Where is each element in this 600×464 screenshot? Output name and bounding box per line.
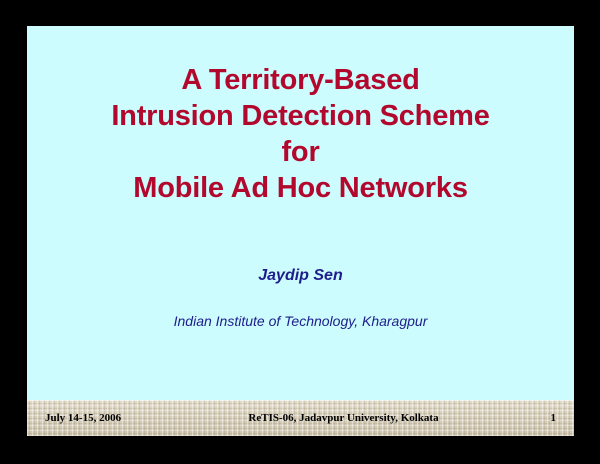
title-line-2: Intrusion Detection Scheme <box>27 98 574 134</box>
title-line-3: for <box>27 134 574 170</box>
slide-title: A Territory-Based Intrusion Detection Sc… <box>27 62 574 206</box>
footer-page-number: 1 <box>516 412 556 424</box>
author-name: Jaydip Sen <box>27 266 574 286</box>
footer-date: July 14-15, 2006 <box>45 412 205 424</box>
author-affiliation: Indian Institute of Technology, Kharagpu… <box>27 312 574 330</box>
slide-footer: July 14-15, 2006 ReTIS-06, Jadavpur Univ… <box>27 400 574 436</box>
footer-venue: ReTIS-06, Jadavpur University, Kolkata <box>205 412 516 424</box>
title-line-4: Mobile Ad Hoc Networks <box>27 170 574 206</box>
author-block: Jaydip Sen Indian Institute of Technolog… <box>27 266 574 330</box>
slide-canvas: A Territory-Based Intrusion Detection Sc… <box>27 26 574 436</box>
title-line-1: A Territory-Based <box>27 62 574 98</box>
presentation-viewport: A Territory-Based Intrusion Detection Sc… <box>0 0 600 464</box>
